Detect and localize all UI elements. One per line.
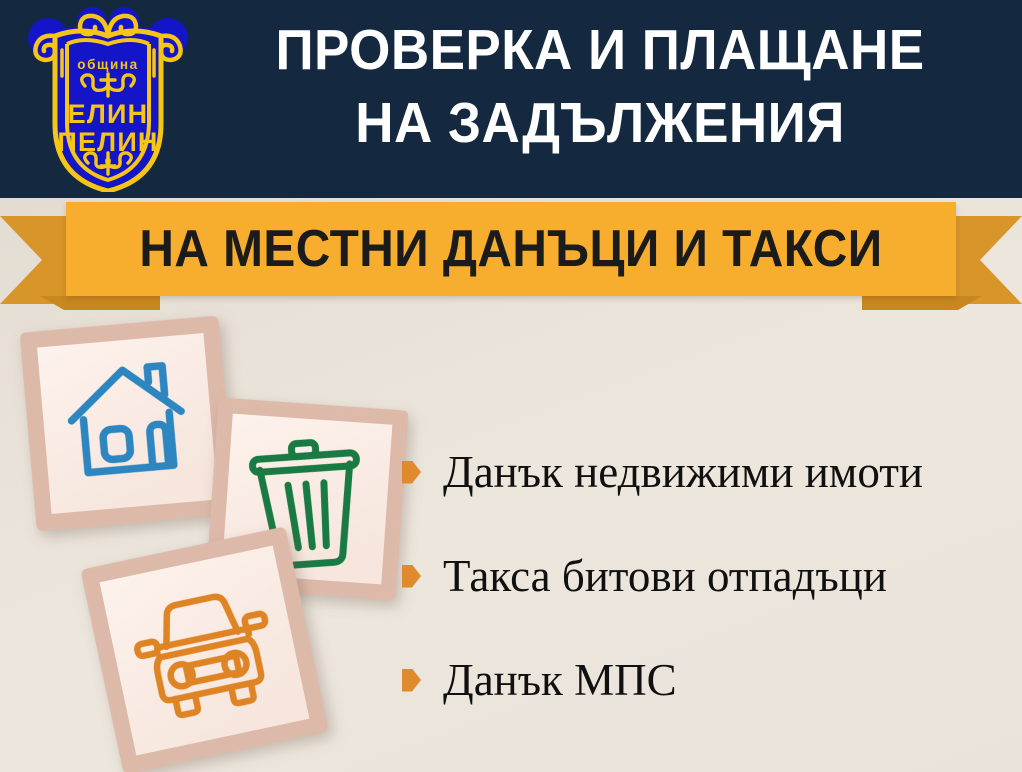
crest-label-line1: ЕЛИН [68, 99, 149, 129]
poster-root: община ЕЛИН ПЕЛИН ПРОВЕРКА И ПЛАЩАНЕ НА … [0, 0, 1022, 772]
arrow-bullet-icon [402, 461, 421, 484]
crest-label-top: община [77, 57, 139, 72]
page-title-line1: ПРОВЕРКА И ПЛАЩАНЕ [275, 18, 924, 82]
tax-type-list: Данък недвижими имоти Такса битови отпад… [402, 420, 1014, 732]
page-title: ПРОВЕРКА И ПЛАЩАНЕ НА ЗАДЪЛЖЕНИЯ [219, 14, 982, 160]
list-item-label: Данък МПС [443, 654, 677, 706]
elin-pelin-municipality-crest: община ЕЛИН ПЕЛИН [22, 6, 194, 192]
page-title-line2: НА ЗАДЪЛЖЕНИЯ [219, 87, 982, 160]
list-item[interactable]: Данък недвижими имоти [402, 420, 1014, 524]
list-item[interactable]: Данък МПС [402, 628, 1014, 732]
ribbon-banner: НА МЕСТНИ ДАНЪЦИ И ТАКСИ [66, 202, 956, 296]
list-item-label: Такса битови отпадъци [443, 550, 887, 602]
ribbon-fold-left [40, 296, 160, 310]
ribbon-fold-right [862, 296, 982, 310]
ribbon-text: НА МЕСТНИ ДАНЪЦИ И ТАКСИ [139, 223, 882, 275]
arrow-bullet-icon [402, 669, 421, 692]
subtitle-ribbon: НА МЕСТНИ ДАНЪЦИ И ТАКСИ [0, 198, 1022, 310]
list-item-label: Данък недвижими имоти [443, 446, 923, 498]
list-item[interactable]: Такса битови отпадъци [402, 524, 1014, 628]
stamp-card-car [59, 505, 350, 772]
arrow-bullet-icon [402, 565, 421, 588]
